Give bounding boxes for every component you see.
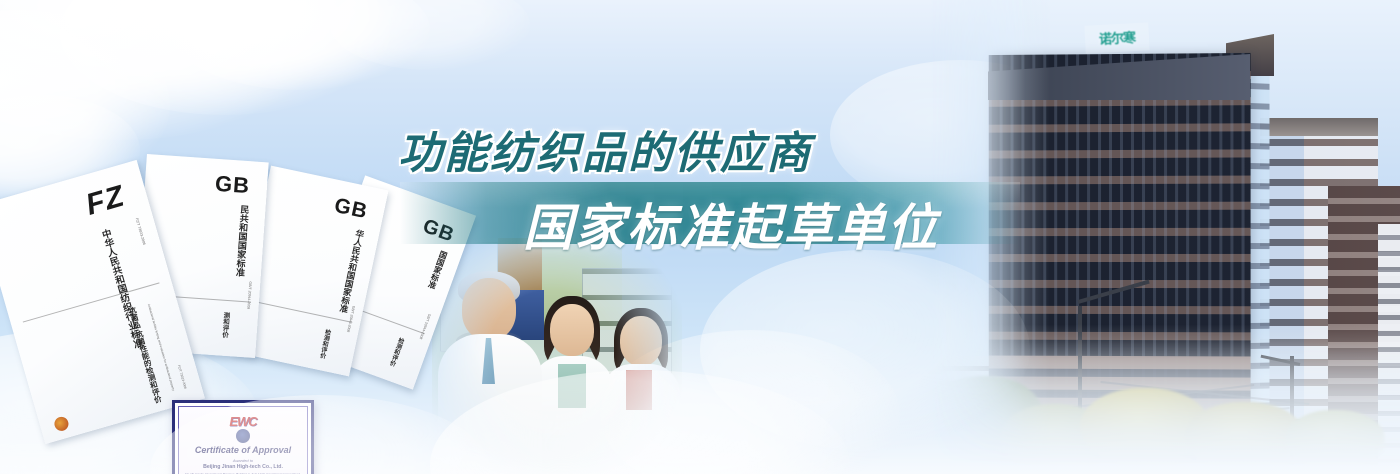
headline-group: 功能纺织品的供应商 国家标准起草单位 xyxy=(0,0,1400,474)
headline-line-1: 功能纺织品的供应商 xyxy=(398,117,812,181)
headline-line-2: 国家标准起草单位 xyxy=(523,188,939,260)
hero-banner: 诺尔寒 xyxy=(0,0,1400,474)
